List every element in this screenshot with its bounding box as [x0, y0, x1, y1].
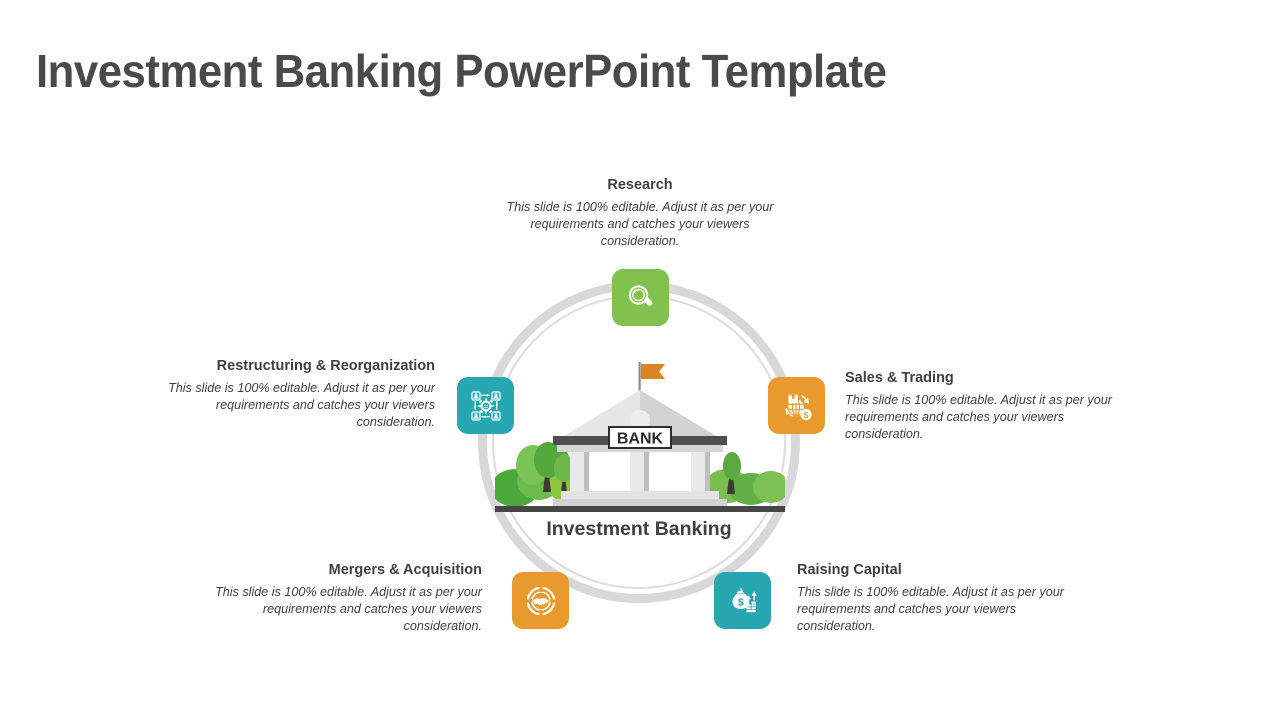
- node-text-restructuring: Restructuring & Reorganization This slid…: [145, 357, 435, 432]
- node-icon-capital[interactable]: $: [714, 572, 771, 629]
- node-heading-sales: Sales & Trading: [845, 369, 1130, 389]
- svg-text:$: $: [737, 596, 743, 608]
- handshake-target-icon: [524, 584, 558, 618]
- node-text-mergers: Mergers & Acquisition This slide is 100%…: [195, 561, 482, 636]
- magnifier-icon: [625, 282, 657, 314]
- node-heading-capital: Raising Capital: [797, 561, 1082, 581]
- money-bag-growth-icon: $: [726, 584, 760, 618]
- node-body-mergers: This slide is 100% editable. Adjust it a…: [195, 584, 482, 636]
- node-body-research: This slide is 100% editable. Adjust it a…: [490, 199, 790, 251]
- node-heading-mergers: Mergers & Acquisition: [195, 561, 482, 581]
- node-icon-research[interactable]: [612, 269, 669, 326]
- node-text-capital: Raising Capital This slide is 100% edita…: [797, 561, 1082, 636]
- node-heading-research: Research: [490, 176, 790, 196]
- global-trade-icon: $: [780, 389, 814, 423]
- bank-sign-text: BANK: [617, 431, 664, 448]
- node-body-capital: This slide is 100% editable. Adjust it a…: [797, 584, 1082, 636]
- network-gear-icon: [469, 389, 503, 423]
- node-text-sales: Sales & Trading This slide is 100% edita…: [845, 369, 1130, 444]
- dollar-coin: $: [800, 408, 811, 419]
- svg-text:$: $: [803, 411, 808, 420]
- center-label: Investment Banking: [478, 518, 800, 541]
- node-icon-mergers[interactable]: [512, 572, 569, 629]
- node-body-restructuring: This slide is 100% editable. Adjust it a…: [145, 380, 435, 432]
- node-body-sales: This slide is 100% editable. Adjust it a…: [845, 392, 1130, 444]
- columns: [570, 452, 710, 492]
- flag: [639, 362, 666, 396]
- box: [788, 394, 798, 403]
- bank-building-illustration: BANK: [495, 360, 785, 515]
- node-heading-restructuring: Restructuring & Reorganization: [145, 357, 435, 377]
- node-icon-sales[interactable]: $: [768, 377, 825, 434]
- node-text-research: Research This slide is 100% editable. Ad…: [490, 176, 790, 251]
- node-icon-restructuring[interactable]: [457, 377, 514, 434]
